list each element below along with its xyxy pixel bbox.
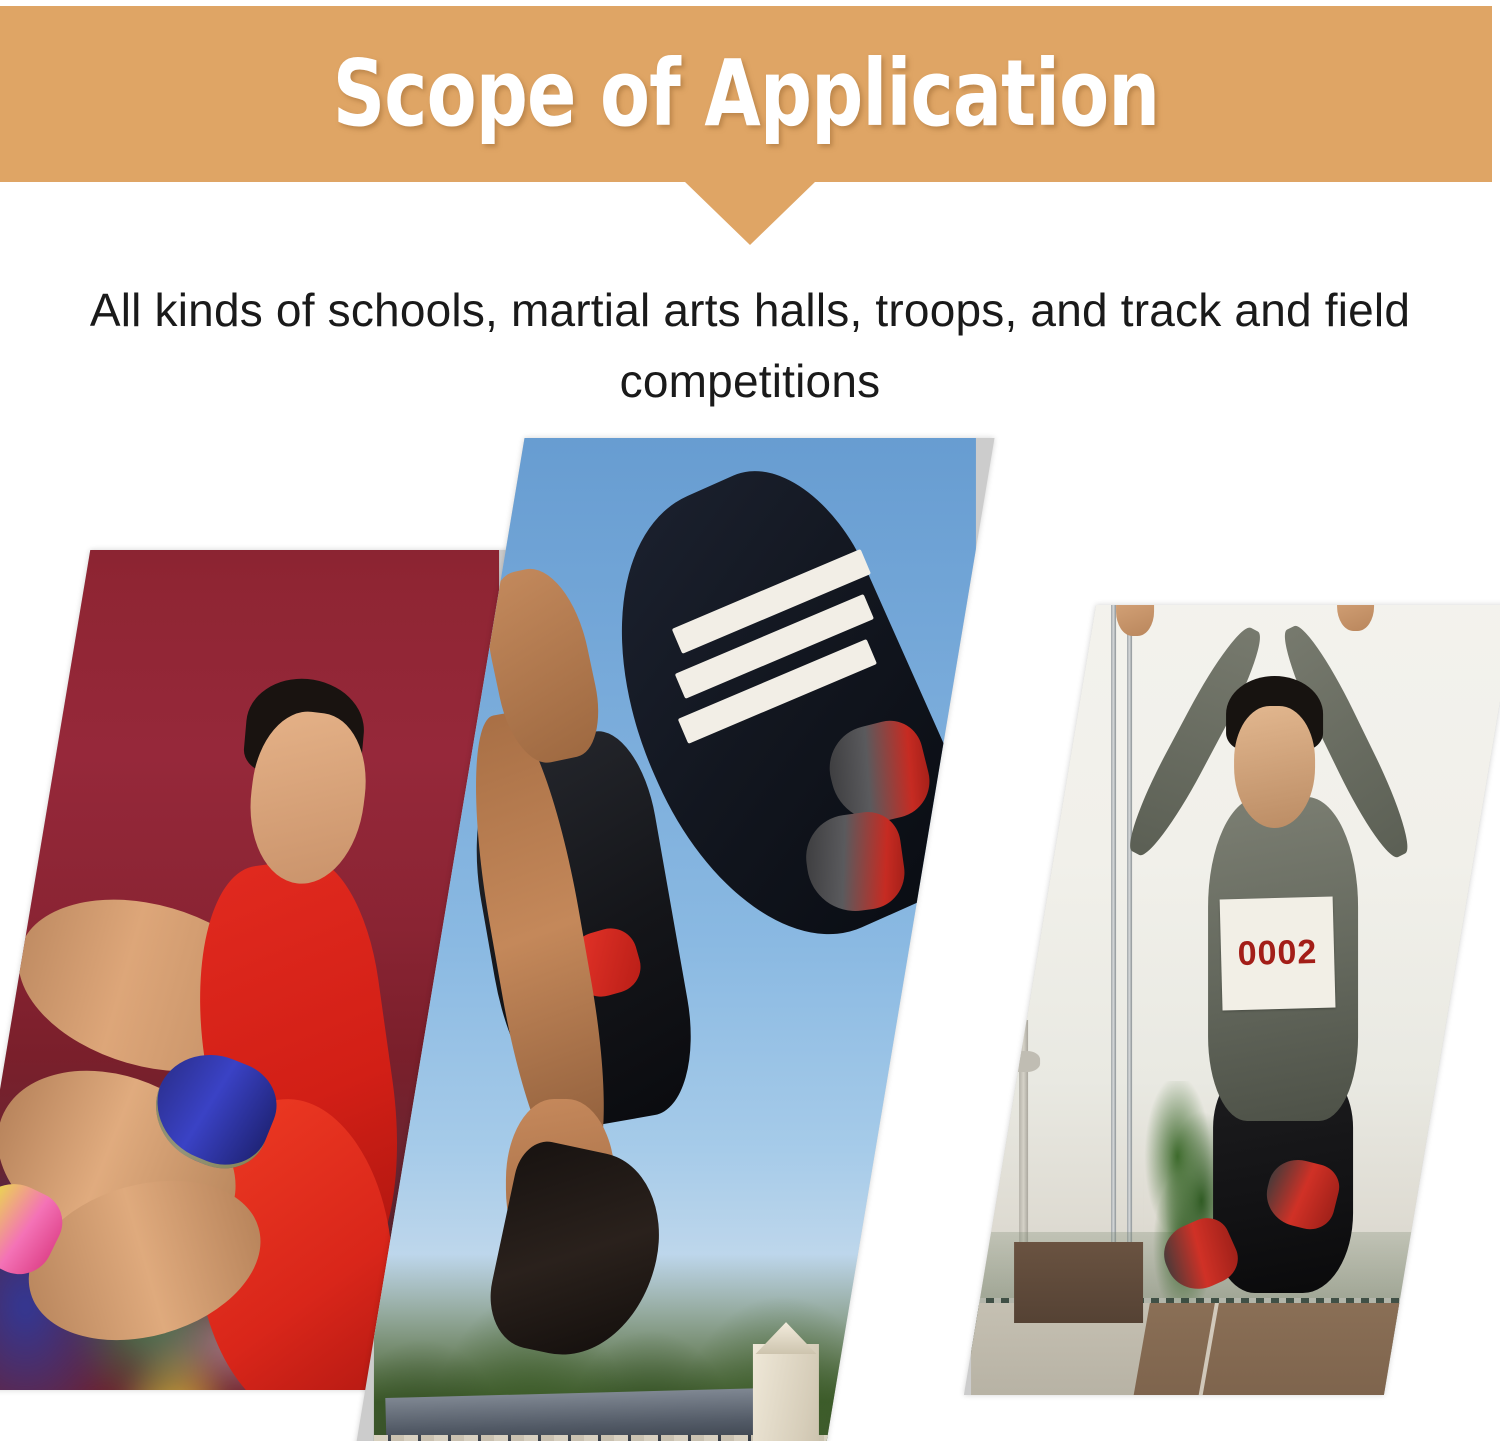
header-banner: Scope of Application [0, 6, 1492, 182]
scope-of-application-page: Scope of Application All kinds of school… [0, 0, 1500, 1441]
photo-collage: 0002 [0, 430, 1500, 1441]
landing-pit-edge [1014, 1243, 1143, 1324]
triangle-down-icon [684, 181, 816, 245]
collage-panel-long-jump-bib: 0002 [964, 605, 1500, 1395]
stone-pillar-left [753, 1344, 819, 1441]
flagpole-right [1127, 605, 1132, 1324]
stone-balustrade-fence [374, 1434, 976, 1441]
flagpole-left [1111, 605, 1116, 1324]
page-title: Scope of Application [90, 6, 1403, 182]
competitor-bib-number: 0002 [1220, 897, 1336, 1011]
long-jump-runway [1115, 1303, 1500, 1395]
pavilion-roof [386, 1388, 772, 1441]
competitor-head [1235, 707, 1316, 828]
stone-pillar-right [880, 1292, 946, 1441]
panel-image-long-jump-bib: 0002 [971, 605, 1500, 1395]
subtitle-text: All kinds of schools, martial arts halls… [60, 275, 1440, 418]
